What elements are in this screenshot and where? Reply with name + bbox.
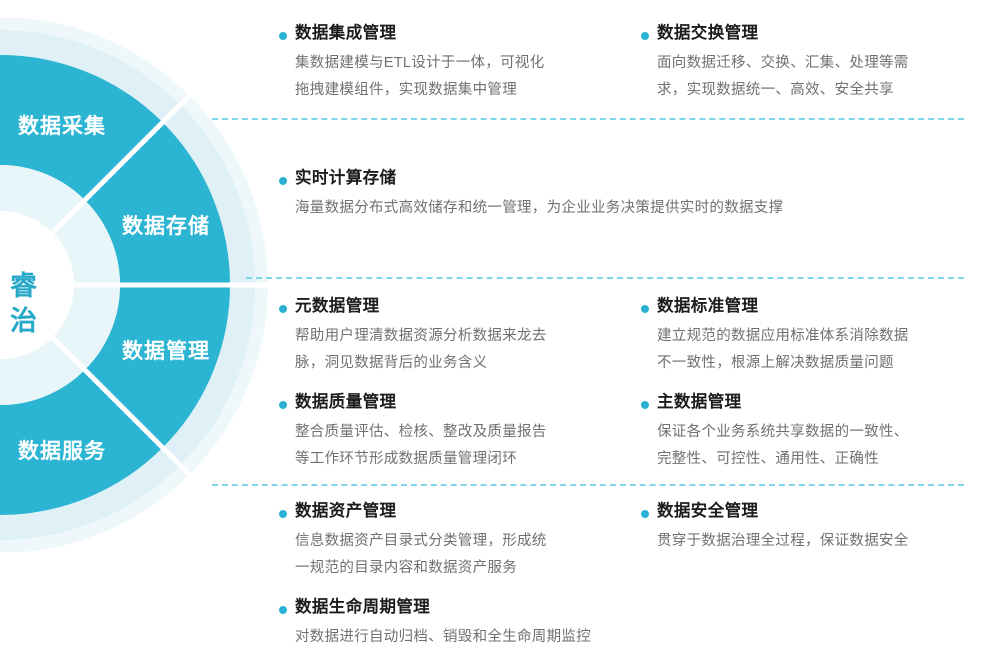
bullet-icon bbox=[641, 32, 649, 40]
bullet-icon bbox=[279, 32, 287, 40]
feature-item-data-quality-management[interactable]: 数据质量管理 整合质量评估、检核、整改及质量报告 等工作环节形成数据质量管理闭环 bbox=[279, 392, 609, 473]
bullet-icon bbox=[641, 401, 649, 409]
section-divider-3 bbox=[212, 484, 964, 486]
feature-description: 帮助用户理清数据资源分析数据来龙去 脉，洞见数据背后的业务含义 bbox=[295, 323, 609, 377]
feature-title: 数据资产管理 bbox=[295, 501, 609, 521]
feature-item-realtime-compute-storage[interactable]: 实时计算存储 海量数据分布式高效储存和统一管理，为企业业务决策提供实时的数据支撑 bbox=[279, 168, 969, 222]
feature-title: 实时计算存储 bbox=[295, 168, 969, 188]
infographic-root: 数据采集 数据存储 数据管理 数据服务 睿 治 数据集成管理 集数据建模与ETL… bbox=[0, 0, 986, 669]
feature-title: 数据交换管理 bbox=[657, 23, 971, 43]
feature-item-data-standard-management[interactable]: 数据标准管理 建立规范的数据应用标准体系消除数据 不一致性，根源上解决数据质量问… bbox=[641, 296, 971, 377]
bullet-icon bbox=[279, 510, 287, 518]
section-divider-1 bbox=[212, 118, 964, 120]
feature-description: 海量数据分布式高效储存和统一管理，为企业业务决策提供实时的数据支撑 bbox=[295, 195, 969, 222]
bullet-icon bbox=[279, 606, 287, 614]
feature-title: 数据集成管理 bbox=[295, 23, 609, 43]
feature-description: 对数据进行自动归档、销毁和全生命周期监控 bbox=[295, 624, 739, 651]
feature-title: 数据安全管理 bbox=[657, 501, 971, 521]
feature-item-data-lifecycle-management[interactable]: 数据生命周期管理 对数据进行自动归档、销毁和全生命周期监控 bbox=[279, 597, 739, 651]
feature-item-metadata-management[interactable]: 元数据管理 帮助用户理清数据资源分析数据来龙去 脉，洞见数据背后的业务含义 bbox=[279, 296, 609, 377]
bullet-icon bbox=[641, 305, 649, 313]
feature-description: 保证各个业务系统共享数据的一致性、 完整性、可控性、通用性、正确性 bbox=[657, 419, 971, 473]
feature-description: 集数据建模与ETL设计于一体，可视化 拖拽建模组件，实现数据集中管理 bbox=[295, 50, 609, 104]
feature-description: 信息数据资产目录式分类管理，形成统 一规范的目录内容和数据资产服务 bbox=[295, 528, 609, 582]
feature-title: 元数据管理 bbox=[295, 296, 609, 316]
feature-item-data-integration[interactable]: 数据集成管理 集数据建模与ETL设计于一体，可视化 拖拽建模组件，实现数据集中管… bbox=[279, 23, 609, 104]
bullet-icon bbox=[279, 401, 287, 409]
feature-title: 数据质量管理 bbox=[295, 392, 609, 412]
feature-description: 整合质量评估、检核、整改及质量报告 等工作环节形成数据质量管理闭环 bbox=[295, 419, 609, 473]
bullet-icon bbox=[279, 305, 287, 313]
feature-description: 面向数据迁移、交换、汇集、处理等需 求，实现数据统一、高效、安全共享 bbox=[657, 50, 971, 104]
feature-description: 贯穿于数据治理全过程，保证数据安全 bbox=[657, 528, 971, 555]
feature-item-master-data-management[interactable]: 主数据管理 保证各个业务系统共享数据的一致性、 完整性、可控性、通用性、正确性 bbox=[641, 392, 971, 473]
bullet-icon bbox=[641, 510, 649, 518]
feature-title: 数据生命周期管理 bbox=[295, 597, 739, 617]
feature-title: 数据标准管理 bbox=[657, 296, 971, 316]
feature-item-data-security-management[interactable]: 数据安全管理 贯穿于数据治理全过程，保证数据安全 bbox=[641, 501, 971, 555]
feature-title: 主数据管理 bbox=[657, 392, 971, 412]
content-panel: 数据集成管理 集数据建模与ETL设计于一体，可视化 拖拽建模组件，实现数据集中管… bbox=[0, 0, 986, 669]
feature-description: 建立规范的数据应用标准体系消除数据 不一致性，根源上解决数据质量问题 bbox=[657, 323, 971, 377]
bullet-icon bbox=[279, 177, 287, 185]
feature-item-data-exchange[interactable]: 数据交换管理 面向数据迁移、交换、汇集、处理等需 求，实现数据统一、高效、安全共… bbox=[641, 23, 971, 104]
feature-item-data-asset-management[interactable]: 数据资产管理 信息数据资产目录式分类管理，形成统 一规范的目录内容和数据资产服务 bbox=[279, 501, 609, 582]
section-divider-2 bbox=[246, 277, 964, 279]
